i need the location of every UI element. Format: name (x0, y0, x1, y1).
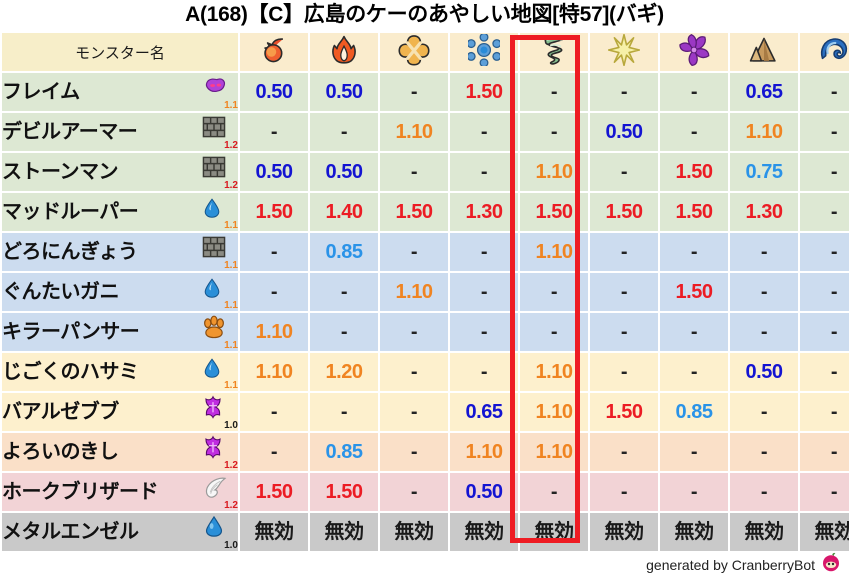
resistance-cell[interactable]: - (450, 113, 518, 151)
resistance-cell[interactable]: - (590, 473, 658, 511)
resistance-cell[interactable]: - (450, 153, 518, 191)
monster-name-cell[interactable]: どろにんぎょう1.1 (2, 233, 238, 271)
resistance-cell[interactable]: - (240, 273, 308, 311)
monster-type-badge: 1.0 (200, 395, 238, 429)
table-row[interactable]: キラーパンサー1.11.10-------- (2, 313, 849, 351)
monster-version-label: 1.2 (224, 461, 238, 471)
resistance-cell[interactable]: 1.50 (660, 193, 728, 231)
resistance-cell[interactable]: - (380, 353, 448, 391)
header-element-0[interactable] (240, 33, 308, 71)
monster-name-cell[interactable]: よろいのきし1.2 (2, 433, 238, 471)
snowflake-icon (450, 34, 518, 71)
monster-version-label: 1.0 (224, 541, 238, 551)
resistance-cell[interactable]: - (730, 313, 798, 351)
resistance-cell[interactable]: - (660, 73, 728, 111)
resistance-cell[interactable]: - (730, 233, 798, 271)
table-header-row: モンスター名 (2, 33, 849, 71)
resistance-cell[interactable]: 無効 (800, 513, 849, 551)
resistance-cell[interactable]: 1.30 (730, 193, 798, 231)
monster-name-cell[interactable]: デビルアーマー1.2 (2, 113, 238, 151)
resistance-cell[interactable]: - (590, 73, 658, 111)
resistance-cell[interactable]: - (380, 473, 448, 511)
header-element-6[interactable] (660, 33, 728, 71)
resistance-cell[interactable]: - (240, 233, 308, 271)
resistance-cell[interactable]: - (310, 273, 378, 311)
resistance-cell[interactable]: 無効 (380, 513, 448, 551)
resistance-cell[interactable]: - (660, 433, 728, 471)
table-row[interactable]: ぐんたいガニ1.1--1.10---1.50-- (2, 273, 849, 311)
footer-text: generated by CranberryBot (646, 557, 815, 573)
table-row[interactable]: ホークブリザード1.21.501.50-0.50----- (2, 473, 849, 511)
monster-type-badge: 1.1 (200, 275, 238, 309)
resistance-cell[interactable]: - (590, 313, 658, 351)
resistance-cell[interactable]: - (800, 153, 849, 191)
resistance-cell[interactable]: - (800, 193, 849, 231)
monster-name-label: ストーンマン (2, 162, 118, 182)
monster-name-cell[interactable]: ストーンマン1.2 (2, 153, 238, 191)
resistance-cell[interactable]: - (730, 433, 798, 471)
header-element-7[interactable] (730, 33, 798, 71)
resistance-cell[interactable]: 0.65 (450, 393, 518, 431)
water-drop-icon (202, 355, 222, 386)
resistance-cell[interactable]: 1.50 (660, 153, 728, 191)
resistance-cell[interactable]: 0.85 (660, 393, 728, 431)
monster-version-label: 1.1 (224, 381, 238, 391)
resistance-cell[interactable]: 1.10 (520, 353, 588, 391)
monster-name-cell[interactable]: ぐんたいガニ1.1 (2, 273, 238, 311)
resistance-cell[interactable]: - (240, 393, 308, 431)
mountain-icon (730, 34, 798, 71)
table-row[interactable]: フレイム1.10.500.50-1.50---0.65- (2, 73, 849, 111)
resistance-cell[interactable]: - (310, 393, 378, 431)
resistance-cell[interactable]: - (310, 113, 378, 151)
monster-type-badge: 1.2 (200, 155, 238, 189)
table-row[interactable]: じごくのハサミ1.11.101.20--1.10--0.50- (2, 353, 849, 391)
monster-type-badge: 1.1 (200, 355, 238, 389)
monster-version-label: 1.1 (224, 261, 238, 271)
header-element-4[interactable] (520, 33, 588, 71)
header-element-3[interactable] (450, 33, 518, 71)
monster-name-cell[interactable]: キラーパンサー1.1 (2, 313, 238, 351)
monster-name-label: ホークブリザード (2, 482, 158, 502)
monster-type-badge: 1.0 (200, 515, 238, 549)
resistance-cell[interactable]: 1.50 (240, 473, 308, 511)
monster-version-label: 1.2 (224, 501, 238, 511)
monster-name-label: よろいのきし (2, 442, 118, 462)
resistance-cell[interactable]: - (590, 153, 658, 191)
table-body: フレイム1.10.500.50-1.50---0.65-デビルアーマー1.2--… (2, 73, 849, 551)
resistance-cell[interactable]: - (590, 353, 658, 391)
monster-version-label: 1.1 (224, 101, 238, 111)
monster-name-label: デビルアーマー (2, 122, 137, 142)
cranberry-bot-logo (821, 552, 841, 577)
monster-version-label: 1.1 (224, 221, 238, 231)
resistance-cell[interactable]: 1.50 (590, 193, 658, 231)
resistance-cell[interactable]: - (380, 433, 448, 471)
resistance-cell[interactable]: - (240, 433, 308, 471)
resistance-cell[interactable]: 0.50 (450, 473, 518, 511)
resistance-cell[interactable]: - (800, 73, 849, 111)
table-row[interactable]: メタルエンゼル1.0無効無効無効無効無効無効無効無効無効 (2, 513, 849, 551)
resistance-cell[interactable]: 無効 (520, 513, 588, 551)
resistance-cell[interactable]: - (800, 393, 849, 431)
resistance-cell[interactable]: 1.10 (380, 273, 448, 311)
monster-version-label: 1.1 (224, 301, 238, 311)
resistance-cell[interactable]: 1.30 (450, 193, 518, 231)
table-row[interactable]: デビルアーマー1.2--1.10--0.50-1.10- (2, 113, 849, 151)
resistance-cell[interactable]: - (450, 313, 518, 351)
resistance-cell[interactable]: - (800, 113, 849, 151)
monster-type-badge: 1.1 (200, 235, 238, 269)
resistance-cell[interactable]: - (380, 73, 448, 111)
purple-trident-icon (202, 435, 224, 464)
header-element-5[interactable] (590, 33, 658, 71)
resistance-cell[interactable]: 1.50 (590, 393, 658, 431)
monster-type-badge: 1.1 (200, 315, 238, 349)
paw-print-icon (202, 315, 226, 344)
resistance-cell[interactable]: - (590, 273, 658, 311)
resistance-cell[interactable]: 1.10 (520, 233, 588, 271)
table-row[interactable]: ストーンマン1.20.500.50--1.10-1.500.75- (2, 153, 849, 191)
table-row[interactable]: マッドルーパー1.11.501.401.501.301.501.501.501.… (2, 193, 849, 231)
brick-wall-icon (202, 115, 226, 144)
resistance-cell[interactable]: 0.50 (240, 73, 308, 111)
monster-name-label: どろにんぎょう (2, 242, 138, 262)
monster-name-label: キラーパンサー (2, 322, 139, 342)
resistance-cell[interactable]: 1.50 (450, 73, 518, 111)
resistance-cell[interactable]: - (590, 433, 658, 471)
resistance-cell[interactable]: 1.20 (310, 353, 378, 391)
tornado-icon (520, 34, 588, 71)
monster-type-badge: 1.1 (200, 75, 238, 109)
header-monster-name: モンスター名 (2, 33, 238, 71)
wave-icon (800, 34, 849, 71)
resistance-cell[interactable]: - (800, 313, 849, 351)
monster-type-badge: 1.1 (200, 195, 238, 229)
resistance-cell[interactable]: - (800, 473, 849, 511)
resistance-cell[interactable]: 1.10 (520, 433, 588, 471)
resistance-cell[interactable]: 1.10 (240, 353, 308, 391)
resistance-cell[interactable]: 無効 (240, 513, 308, 551)
resistance-cell[interactable]: - (450, 273, 518, 311)
resistance-cell[interactable]: - (660, 113, 728, 151)
resistance-cell[interactable]: 1.50 (380, 193, 448, 231)
monster-name-cell[interactable]: メタルエンゼル1.0 (2, 513, 238, 551)
page-title: A(168)【C】広島のケーのあやしい地図[特57](バギ) (0, 0, 849, 31)
monster-name-label: メタルエンゼル (2, 522, 139, 542)
flame-icon (310, 34, 378, 71)
resistance-cell[interactable]: - (520, 473, 588, 511)
brick-wall-icon (202, 155, 226, 184)
resistance-cell[interactable]: - (520, 73, 588, 111)
resistance-cell[interactable]: 0.75 (730, 153, 798, 191)
resistance-cell[interactable]: - (590, 233, 658, 271)
resistance-cell[interactable]: 1.10 (450, 433, 518, 471)
brick-wall-icon (202, 235, 226, 264)
monster-name-cell[interactable]: マッドルーパー1.1 (2, 193, 238, 231)
monster-name-label: ぐんたいガニ (2, 282, 119, 302)
resistance-cell[interactable]: 1.50 (660, 273, 728, 311)
monster-name-cell[interactable]: じごくのハサミ1.1 (2, 353, 238, 391)
resistance-cell[interactable]: - (380, 233, 448, 271)
resistance-cell[interactable]: - (380, 153, 448, 191)
resistance-cell[interactable]: - (800, 273, 849, 311)
resistance-cell[interactable]: 0.65 (730, 73, 798, 111)
sparkle-star-icon (590, 34, 658, 71)
resistance-cell[interactable]: - (660, 473, 728, 511)
resistance-cell[interactable]: 1.50 (520, 193, 588, 231)
table-row[interactable]: どろにんぎょう1.1-0.85--1.10---- (2, 233, 849, 271)
resistance-cell[interactable]: - (730, 273, 798, 311)
resistance-cell[interactable]: - (660, 233, 728, 271)
resistance-cell[interactable]: - (660, 313, 728, 351)
resistance-cell[interactable]: 無効 (660, 513, 728, 551)
resistance-cell[interactable]: - (520, 313, 588, 351)
resistance-cell[interactable]: - (240, 113, 308, 151)
water-drop-icon (202, 195, 222, 226)
resistance-cell[interactable]: - (660, 353, 728, 391)
resistance-cell[interactable]: 無効 (730, 513, 798, 551)
water-drop-icon (202, 275, 222, 306)
resistance-cell[interactable]: - (450, 233, 518, 271)
monster-version-label: 1.1 (224, 341, 238, 351)
blue-slime-icon (202, 515, 226, 544)
resistance-cell[interactable]: 0.50 (730, 353, 798, 391)
explosion-icon (380, 34, 448, 71)
purple-pinwheel-icon (660, 34, 728, 71)
monster-name-cell[interactable]: フレイム1.1 (2, 73, 238, 111)
header-element-1[interactable] (310, 33, 378, 71)
monster-version-label: 1.2 (224, 141, 238, 151)
resistance-cell[interactable]: - (520, 113, 588, 151)
table-row[interactable]: バアルゼブブ1.0---0.651.101.500.85-- (2, 393, 849, 431)
resistance-cell[interactable]: - (520, 273, 588, 311)
monster-name-label: フレイム (2, 82, 80, 102)
resistance-cell[interactable]: - (800, 233, 849, 271)
resistance-cell[interactable]: 1.10 (520, 393, 588, 431)
resistance-cell[interactable]: - (380, 313, 448, 351)
header-element-8[interactable] (800, 33, 849, 71)
monster-type-badge: 1.2 (200, 435, 238, 469)
monster-name-label: じごくのハサミ (2, 362, 139, 382)
resistance-table: モンスター名 フレイム1.10.500.50-1.50---0.65-デビルアー… (0, 31, 849, 553)
table-row[interactable]: よろいのきし1.2-0.85-1.101.10---- (2, 433, 849, 471)
resistance-cell[interactable]: 無効 (450, 513, 518, 551)
resistance-cell[interactable]: 0.50 (310, 73, 378, 111)
resistance-cell[interactable]: 0.50 (240, 153, 308, 191)
purple-trident-icon (202, 395, 224, 424)
resistance-cell[interactable]: 1.10 (380, 113, 448, 151)
resistance-cell[interactable]: 0.50 (310, 153, 378, 191)
resistance-cell[interactable]: 1.10 (730, 113, 798, 151)
resistance-cell[interactable]: - (800, 433, 849, 471)
meteor-fire-icon (240, 34, 308, 71)
monster-type-badge: 1.2 (200, 475, 238, 509)
monster-name-label: バアルゼブブ (2, 402, 119, 422)
resistance-cell[interactable]: 0.85 (310, 233, 378, 271)
monster-version-label: 1.0 (224, 421, 238, 431)
monster-name-label: マッドルーパー (2, 202, 138, 222)
resistance-cell[interactable]: 1.10 (520, 153, 588, 191)
monster-name-cell[interactable]: バアルゼブブ1.0 (2, 393, 238, 431)
resistance-cell[interactable]: - (730, 393, 798, 431)
resistance-cell[interactable]: 0.50 (590, 113, 658, 151)
map-page: A(168)【C】広島のケーのあやしい地図[特57](バギ) モンスター名 フレ… (0, 0, 849, 583)
monster-name-cell[interactable]: ホークブリザード1.2 (2, 473, 238, 511)
monster-type-badge: 1.2 (200, 115, 238, 149)
resistance-cell[interactable]: 1.50 (310, 473, 378, 511)
resistance-cell[interactable]: - (800, 353, 849, 391)
monster-version-label: 1.2 (224, 181, 238, 191)
resistance-cell[interactable]: - (450, 353, 518, 391)
resistance-cell[interactable]: 1.50 (240, 193, 308, 231)
resistance-cell[interactable]: 無効 (590, 513, 658, 551)
resistance-cell[interactable]: 0.85 (310, 433, 378, 471)
resistance-cell[interactable]: - (730, 473, 798, 511)
resistance-cell[interactable]: - (380, 393, 448, 431)
resistance-cell[interactable]: - (310, 313, 378, 351)
resistance-cell[interactable]: 1.10 (240, 313, 308, 351)
resistance-cell[interactable]: 1.40 (310, 193, 378, 231)
footer: generated by CranberryBot (646, 552, 841, 577)
header-element-2[interactable] (380, 33, 448, 71)
resistance-cell[interactable]: 無効 (310, 513, 378, 551)
